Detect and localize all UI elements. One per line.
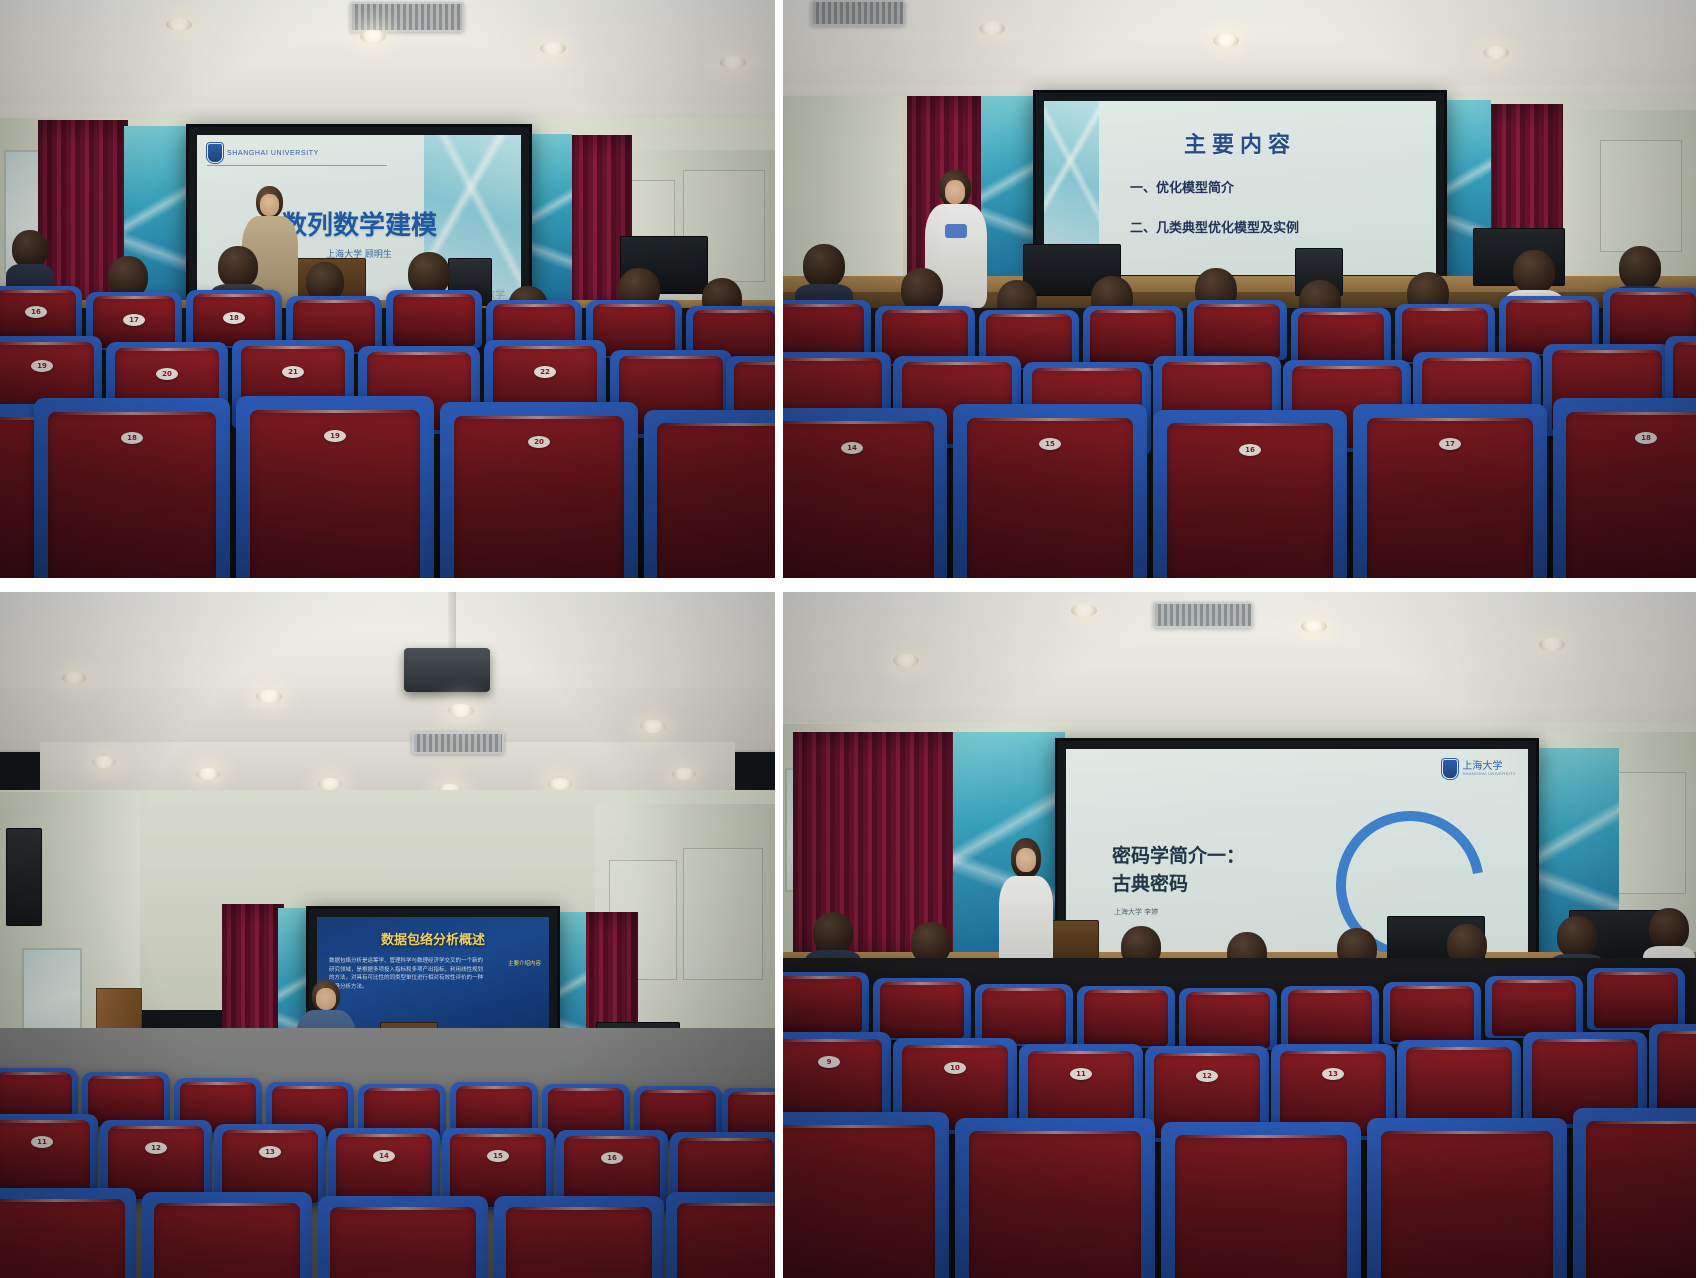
slide-logo: 上海大学 SHANGHAI UNIVERSITY [1442, 759, 1516, 779]
auditorium-seat: 18 [1553, 398, 1696, 578]
slide-subtitle: 上海大学 李婷 [1114, 907, 1158, 917]
auditorium-seat [783, 972, 869, 1034]
auditorium-seat: 14 [783, 408, 947, 578]
seat-back-cushion [1381, 1131, 1553, 1278]
presenter-face [1016, 848, 1036, 872]
auditorium-seat [1383, 982, 1481, 1044]
presenter-face [316, 988, 336, 1010]
ceiling-downlight [256, 690, 282, 703]
ceiling-downlight [360, 30, 386, 43]
slide-note: 主要介绍内容 [508, 959, 541, 967]
auditorium-seat [1281, 986, 1379, 1048]
air-conditioner-vent-icon [350, 2, 464, 32]
auditorium-seat [1187, 300, 1287, 360]
auditorium-seat [318, 1196, 488, 1278]
seat-number-badge: 17 [1439, 438, 1461, 450]
auditorium-seat: 19 [236, 396, 434, 578]
ceiling-downlight [448, 704, 474, 717]
auditorium-seat [1077, 986, 1175, 1048]
auditorium-seat [1291, 308, 1391, 368]
slide-logo-text: SHANGHAI UNIVERSITY [227, 150, 319, 157]
seat-back-cushion [783, 1125, 935, 1278]
seat-back-cushion [982, 988, 1066, 1043]
seat-back-cushion [969, 1131, 1141, 1278]
ceiling-projector [404, 648, 490, 692]
slide-title: 数据包络分析概述 [317, 929, 549, 948]
ceiling-downlight [640, 720, 666, 733]
photo-collage: SHANGHAI UNIVERSITY 数列数学建模 上海大学 顾明生 数学 [0, 0, 1704, 1278]
audience-member [6, 230, 54, 290]
ceiling-downlight [720, 56, 746, 69]
seat-number-badge: 12 [145, 1142, 167, 1154]
seat-back-cushion [1594, 972, 1678, 1027]
auditorium-seat [1161, 1122, 1361, 1278]
seat-back-cushion [1298, 312, 1384, 365]
auditorium-seat [1485, 976, 1583, 1038]
presenter-torso [999, 876, 1053, 968]
seat-number-badge: 9 [818, 1056, 840, 1068]
seat-back-cushion [783, 304, 864, 357]
presenter-4 [997, 838, 1055, 968]
presenter-face [260, 194, 279, 216]
seat-back-cushion [1186, 992, 1270, 1047]
ceiling-downlight [318, 778, 342, 790]
auditorium-seat [1573, 1108, 1696, 1278]
ceiling-downlight [979, 22, 1005, 35]
seat-number-badge: 15 [1039, 438, 1061, 450]
seat-number-badge: 19 [31, 360, 53, 372]
photo-panel-bottom-left: 数据包络分析概述 数据包络分析是运筹学、管理科学与数理经济学交叉的一个新的研究领… [0, 592, 775, 1278]
seat-back-cushion [1566, 412, 1696, 578]
auditorium-seat [783, 300, 871, 360]
slide-title-line-1: 密码学简介一： [1112, 845, 1245, 869]
auditorium-seat [494, 1196, 664, 1278]
seat-number-badge: 16 [25, 306, 47, 318]
ceiling-downlight [1213, 34, 1239, 47]
audience-head [1649, 908, 1689, 950]
auditorium-seat: 15 [953, 404, 1147, 578]
auditorium-seat [1367, 1118, 1567, 1278]
audience-head [1513, 250, 1555, 294]
seat-back-cushion [880, 982, 964, 1037]
seat-back-cushion [1390, 986, 1474, 1041]
seat-back-cushion [1175, 1135, 1347, 1278]
seat-back-cushion [1288, 990, 1372, 1045]
ceiling-downlight [672, 768, 696, 780]
slide-logo-subtext: SHANGHAI UNIVERSITY [1462, 772, 1516, 776]
ceiling-downlight [1301, 620, 1327, 633]
auditorium-seat [955, 1118, 1155, 1278]
ceiling-downlight [1539, 638, 1565, 651]
auditorium-seat [783, 1112, 949, 1278]
seat-back-cushion [677, 1203, 776, 1278]
seat-number-badge: 20 [156, 368, 178, 380]
seat-back-cushion [0, 1120, 90, 1193]
seat-back-cushion [1492, 980, 1576, 1035]
photo-panel-top-left: SHANGHAI UNIVERSITY 数列数学建模 上海大学 顾明生 数学 [0, 0, 775, 578]
auditorium-seat [975, 984, 1073, 1046]
auditorium-seat [0, 1188, 136, 1278]
photo-panel-top-right: 主要内容 一、优化模型简介 二、几类典型优化模型及实例 [783, 0, 1696, 578]
seat-back-cushion [1194, 304, 1280, 357]
seat-number-badge: 10 [944, 1062, 966, 1074]
ceiling-downlight [62, 672, 86, 684]
seat-number-badge: 15 [487, 1150, 509, 1162]
speaker-box [6, 828, 42, 926]
seat-back-cushion [506, 1207, 652, 1278]
seat-number-badge: 13 [259, 1146, 281, 1158]
slide-logo-rule [207, 165, 387, 166]
ceiling-downlight [166, 18, 192, 31]
audience-head [218, 246, 258, 288]
agenda-item-2: 二、几类典型优化模型及实例 [1130, 217, 1299, 236]
auditorium-seat [873, 978, 971, 1040]
ceiling-downlight [92, 756, 116, 768]
presenter-face [945, 180, 965, 204]
ceiling-downlight [893, 654, 919, 667]
wall-panel [683, 848, 763, 980]
slide-title-line-2: 古典密码 [1112, 873, 1188, 897]
seat-number-badge: 18 [121, 432, 143, 444]
auditorium-seat: 18 [34, 398, 230, 578]
seat-number-badge: 11 [1070, 1068, 1092, 1080]
seat-number-badge: 17 [123, 314, 145, 326]
auditorium-seat [1587, 968, 1685, 1030]
seat-number-badge: 22 [534, 366, 556, 378]
seat-number-badge: 11 [31, 1136, 53, 1148]
lecture-hall-scene-2: 主要内容 一、优化模型简介 二、几类典型优化模型及实例 [783, 0, 1696, 578]
seat-back-cushion [783, 976, 862, 1031]
air-conditioner-vent-icon [811, 0, 905, 26]
auditorium-seat [666, 1192, 775, 1278]
ceiling-downlight [196, 768, 220, 780]
wall-panel [1600, 140, 1682, 252]
seat-number-badge: 16 [1239, 444, 1261, 456]
audience-head [12, 230, 48, 268]
auditorium-seat [386, 290, 482, 348]
seat-number-badge: 13 [1322, 1068, 1344, 1080]
seat-number-badge: 19 [324, 430, 346, 442]
shirt-print [945, 224, 967, 238]
auditorium-seat [1179, 988, 1277, 1050]
wall-panel [1614, 772, 1686, 894]
auditorium-seat: 20 [440, 402, 638, 578]
auditorium-seat: 16 [1153, 410, 1347, 578]
audience-head [813, 912, 853, 954]
ceiling-downlight [548, 778, 572, 790]
photo-panel-bottom-right: 上海大学 SHANGHAI UNIVERSITY 密码学简介一： 古典密码 上海… [783, 592, 1696, 1278]
seat-number-badge: 21 [282, 366, 304, 378]
auditorium-seat: 16 [0, 286, 82, 342]
slide-logo: SHANGHAI UNIVERSITY [207, 143, 319, 163]
audience-head [803, 244, 845, 288]
seat-number-badge: 16 [601, 1152, 623, 1164]
auditorium-seat [644, 410, 775, 578]
audience-head [1619, 246, 1661, 290]
seat-number-badge: 20 [528, 436, 550, 448]
seat-back-cushion [0, 1199, 125, 1278]
ceiling-downlight [1483, 46, 1509, 59]
seat-number-badge: 18 [1635, 432, 1657, 444]
seat-number-badge: 18 [223, 312, 245, 324]
university-crest-icon [1442, 759, 1458, 779]
lecture-hall-scene-3: 数据包络分析概述 数据包络分析是运筹学、管理科学与数理经济学交叉的一个新的研究领… [0, 592, 775, 1278]
seat-back-cushion [657, 423, 775, 578]
seat-number-badge: 12 [1196, 1070, 1218, 1082]
seat-back-cushion [393, 294, 476, 346]
ceiling-downlight [1071, 604, 1097, 617]
seat-number-badge: 14 [373, 1150, 395, 1162]
seat-back-cushion [88, 1076, 164, 1126]
seat-back-cushion [330, 1207, 476, 1278]
air-conditioner-vent-icon [1153, 602, 1253, 628]
audience-head [1557, 916, 1597, 958]
seat-back-cushion [1657, 1031, 1696, 1116]
ceiling [783, 0, 1696, 100]
seat-number-badge: 14 [841, 442, 863, 454]
lecture-hall-scene-1: SHANGHAI UNIVERSITY 数列数学建模 上海大学 顾明生 数学 [0, 0, 775, 578]
auditorium-seat: 11 [0, 1114, 98, 1196]
university-crest-icon [207, 143, 223, 163]
slide-title: 主要内容 [1044, 127, 1436, 159]
auditorium-seat: 17 [1353, 404, 1547, 578]
agenda-item-1: 一、优化模型简介 [1130, 177, 1234, 196]
seat-back-cushion [1586, 1121, 1696, 1278]
seat-back-cushion [1084, 990, 1168, 1045]
auditorium-seat [142, 1192, 312, 1278]
projector-mount-rod [448, 592, 456, 650]
auditorium-seat [1649, 1024, 1696, 1120]
seat-back-cushion [154, 1203, 300, 1278]
ceiling-downlight [540, 42, 566, 55]
air-conditioner-vent-icon [412, 732, 504, 754]
lecture-hall-scene-4: 上海大学 SHANGHAI UNIVERSITY 密码学简介一： 古典密码 上海… [783, 592, 1696, 1278]
